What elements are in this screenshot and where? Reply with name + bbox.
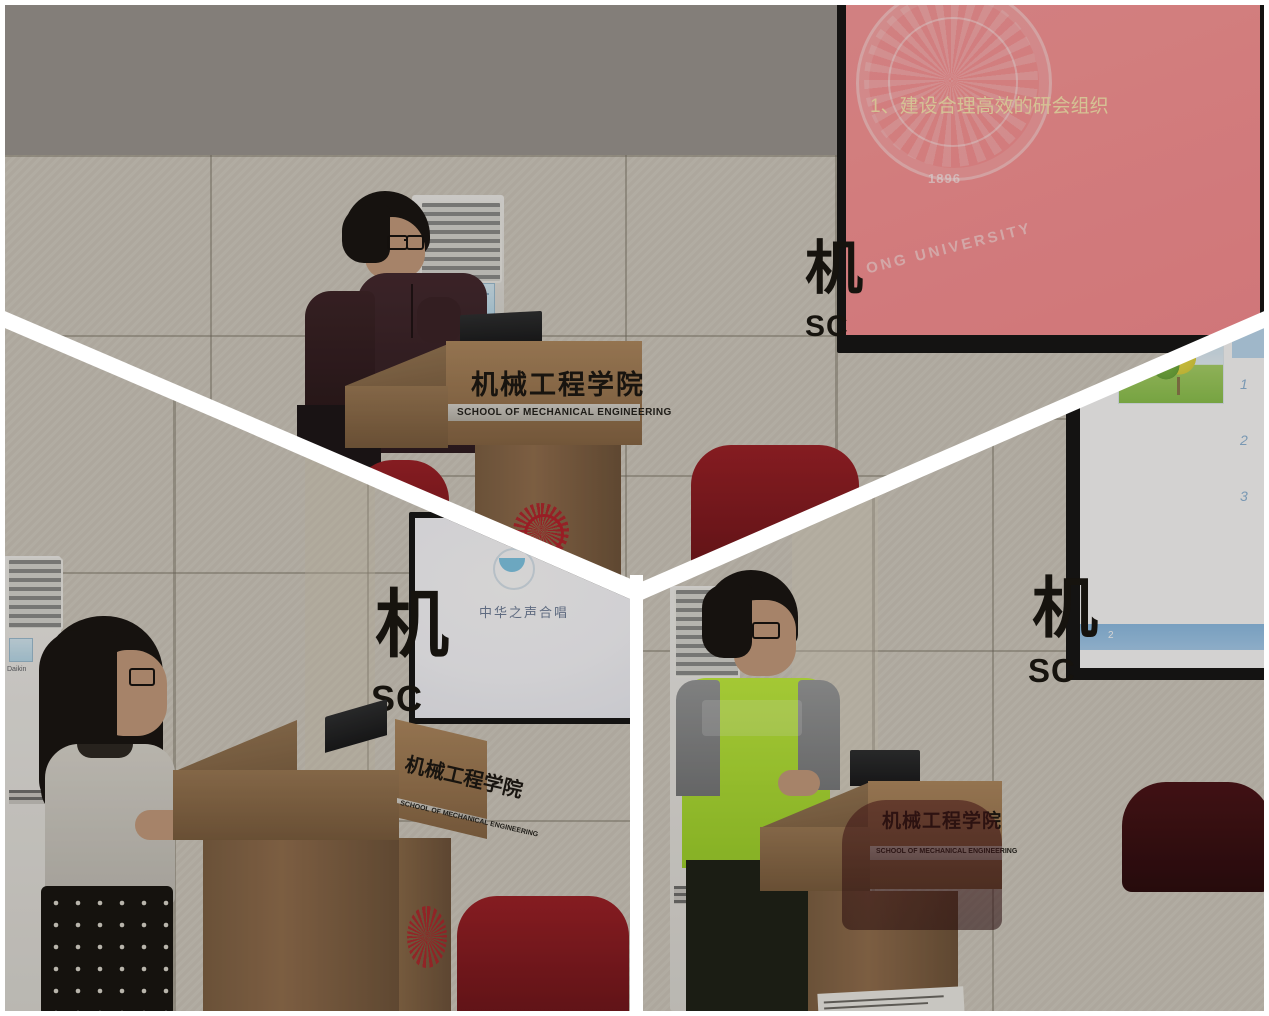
projector-screen-face: 1896 ONG UNIVERSITY 汇报 1、建设合理高效的研会组织 [846, 5, 1260, 335]
presenter-glasses [129, 668, 155, 686]
podium-side-face [173, 770, 399, 840]
air-conditioner-grille [420, 201, 502, 283]
divider-vertical [630, 575, 643, 1016]
wall-chinese-text: 机 [1032, 575, 1098, 641]
slide-list-number-1: 1 [1240, 376, 1248, 392]
presenter-collar [77, 744, 133, 758]
wall-chinese-text: 机 [375, 588, 449, 662]
presenter-shirt-graphic [702, 700, 802, 736]
presenter-hands [778, 770, 820, 796]
podium-column [203, 840, 399, 1011]
seal-year: 1896 [928, 171, 961, 186]
slide-list-number-2: 2 [1240, 432, 1248, 448]
podium-side-face [345, 386, 448, 448]
speaker-shirt-placket [411, 284, 413, 338]
air-conditioner-grille [7, 558, 63, 630]
presenter-glasses [752, 622, 780, 639]
air-conditioner-energy-label [9, 638, 33, 662]
slide-text: 中华之声合唱 [479, 602, 569, 621]
podium-english-label: SCHOOL OF MECHANICAL ENGINEERING [457, 407, 672, 418]
wall-english-text: SC [1028, 652, 1076, 690]
photo-collage: 1896 ONG UNIVERSITY 汇报 1、建设合理高效的研会组织 机 S… [0, 0, 1269, 1016]
speaker-glasses-left [387, 235, 408, 250]
speaker-hair-side [342, 205, 390, 263]
chair-red [457, 896, 629, 1011]
slide-page-number: 2 [1108, 630, 1114, 641]
tile-seam [173, 300, 176, 1011]
projector-screen-frame: 1896 ONG UNIVERSITY 汇报 1、建设合理高效的研会组织 [837, 5, 1264, 353]
wall-english-text: SC [805, 310, 849, 344]
air-conditioner-brand: Daikin [7, 666, 26, 673]
slide-bullet-1: 1、建设合理高效的研会组织 [870, 91, 1109, 118]
presenter-skirt [41, 886, 173, 1011]
slide-photo-trunk [1177, 377, 1180, 395]
speaker-glasses-right [406, 235, 424, 250]
presenter-skirt-dots [41, 886, 173, 1011]
presenter-hair-side [702, 584, 752, 658]
podium-chinese-label: 机械工程学院 [471, 363, 645, 402]
wall-chinese-text: 机 [805, 240, 863, 298]
presenter-sleeve-left [676, 680, 720, 796]
podium-gear-logo-icon [407, 906, 447, 968]
speaker-glasses-bridge [404, 239, 408, 241]
university-seal-inner-icon [888, 17, 1018, 147]
slide-list-number-3: 3 [1240, 488, 1248, 504]
speaker-arm-right [417, 297, 461, 343]
